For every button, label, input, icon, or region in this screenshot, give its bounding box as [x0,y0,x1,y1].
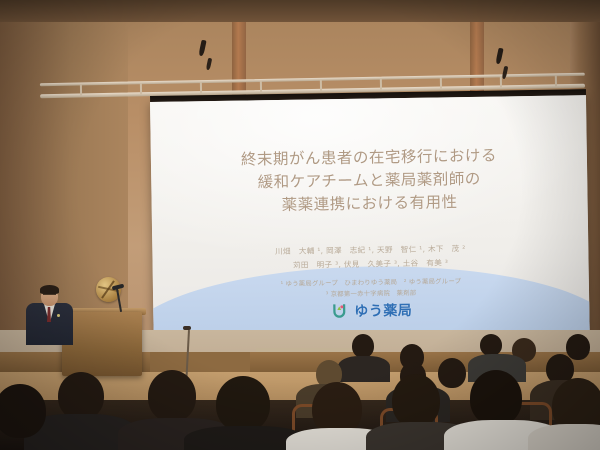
authors-line-2: 苅田 明子 ³, 伏見 久美子 ³, 土谷 有美 ³ [275,256,466,273]
speaker-badge [57,314,60,317]
audience-head [480,334,502,356]
audience-shoulders [528,424,600,450]
yu-pharmacy-logo-icon [330,302,348,320]
audience-shoulders [338,356,390,382]
presentation-photo-scene: 終末期がん患者の在宅移行における 緩和ケアチームと薬局薬剤師の 薬薬連携における… [0,0,600,450]
slide-authors: 川畑 大輔 ¹, 岡澤 志紀 ¹, 天野 智仁 ¹, 木下 茂 ² 苅田 明子 … [275,242,466,273]
audience-head [0,384,46,438]
audience-head [216,376,270,432]
audience-head [470,370,522,426]
audience-head [148,370,196,422]
audience-head [352,334,374,358]
audience-head [392,374,440,428]
audience-head [566,334,590,360]
truss-post [320,80,322,91]
audience-head [58,372,104,420]
slide-affiliations: ¹ ゆう薬局グループ ひまわりゆう薬局 ² ゆう薬局グループ ³ 京都第一赤十字… [280,276,461,301]
projection-screen: 終末期がん患者の在宅移行における 緩和ケアチームと薬局薬剤師の 薬薬連携における… [150,95,590,348]
slide-logo-text: ゆう薬局 [354,300,412,321]
truss-post [440,78,442,89]
slide-title: 終末期がん患者の在宅移行における 緩和ケアチームと薬局薬剤師の 薬薬連携における… [241,145,498,218]
truss-post [260,81,262,92]
truss-post [140,83,142,94]
truss-post [555,75,557,86]
speaker-hair [40,285,59,294]
slide-title-line-2: 緩和ケアチームと薬局薬剤師の [241,168,497,195]
truss-post [200,82,202,93]
truss-post [80,84,82,95]
truss-post [380,79,382,90]
speaker-glasses-icon [43,294,56,298]
audience-head [438,358,466,388]
slide-title-line-3: 薬薬連携における有用性 [241,191,497,218]
seated-audience [0,330,600,450]
